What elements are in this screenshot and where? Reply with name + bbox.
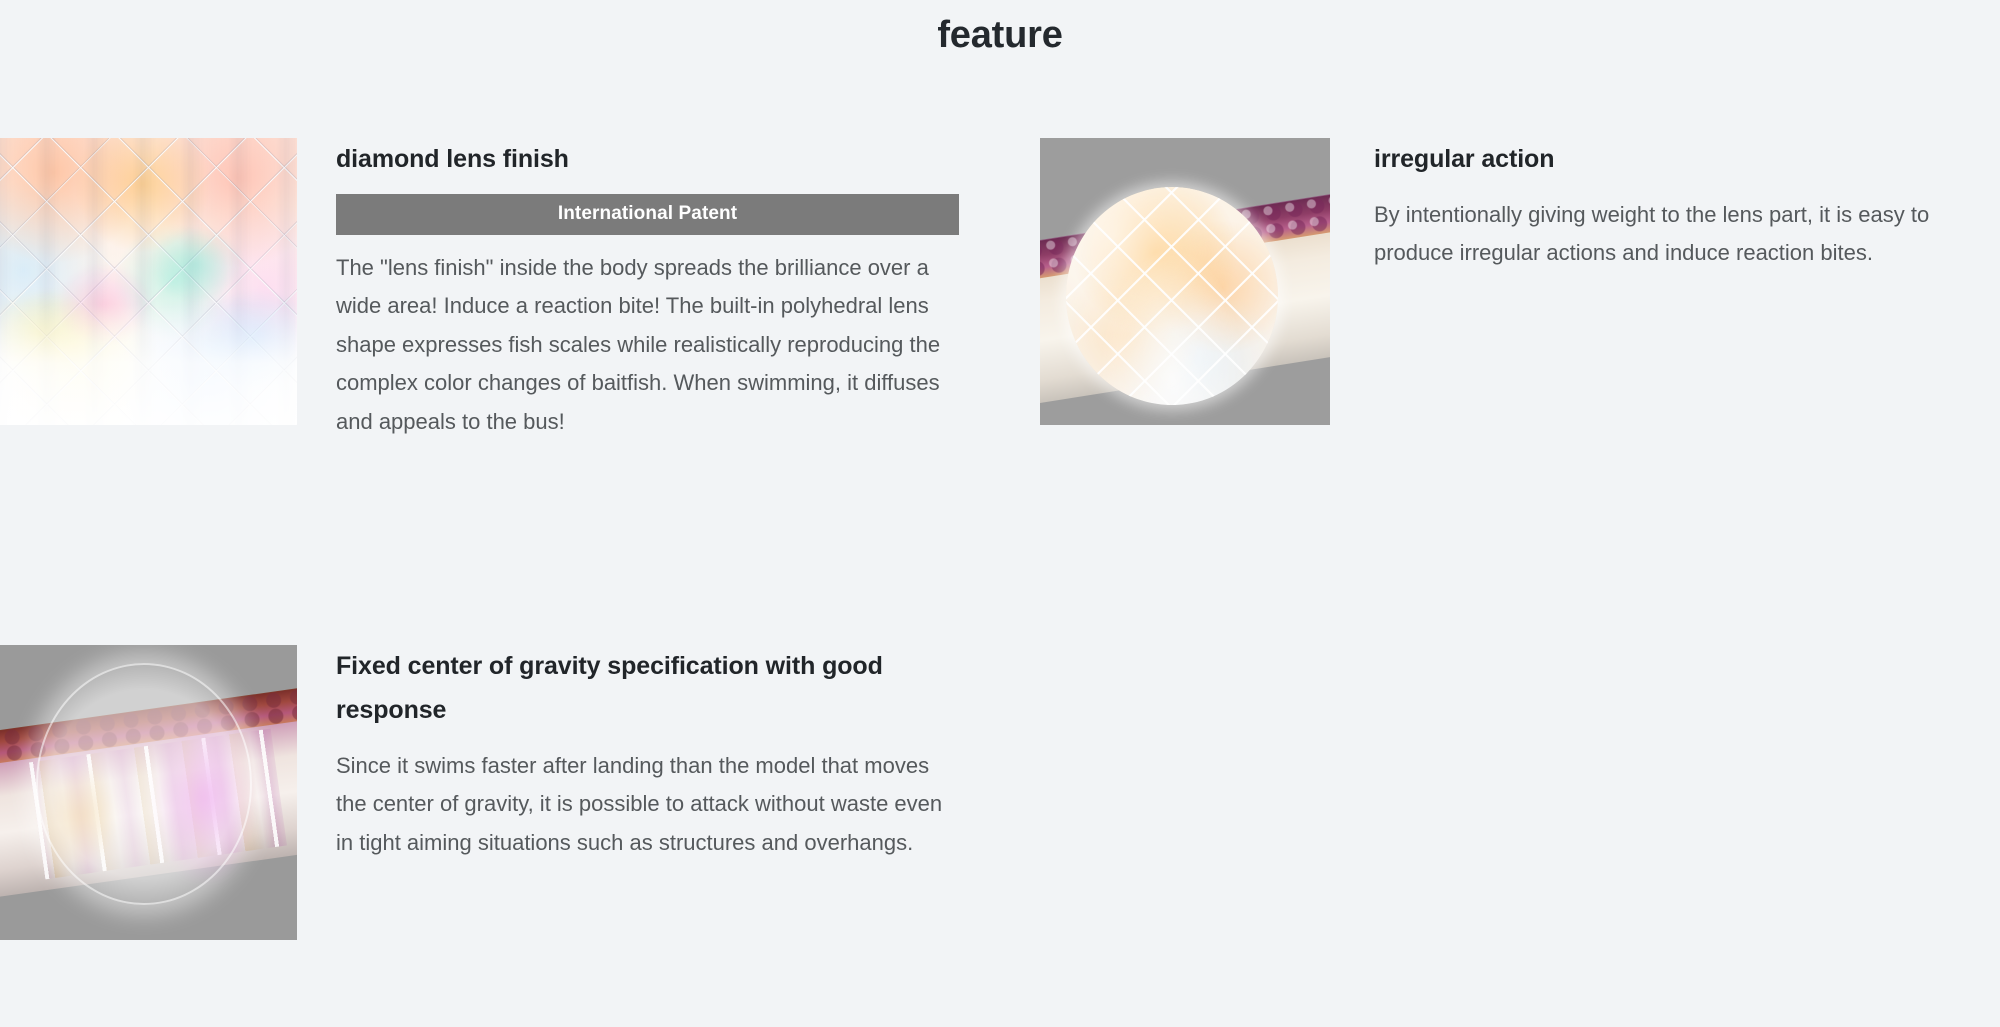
feature-title: Fixed center of gravity specification wi… [336,645,960,733]
magnified-lens-rim [36,663,253,905]
feature-block-irregular-action: irregular action By intentionally giving… [1040,138,1980,425]
fixed-center-of-gravity-text: Fixed center of gravity specification wi… [297,645,960,862]
diamond-lens-finish-text: diamond lens finish International Patent… [297,138,960,441]
status-badge: International Patent [336,194,959,235]
glare-highlight [0,304,297,425]
page-title: feature [0,4,2000,66]
feature-page: feature diamond lens finish Internationa… [0,0,2000,1027]
feature-body: Since it swims faster after landing than… [336,747,960,863]
diamond-lens-finish-image [0,138,297,425]
feature-body: By intentionally giving weight to the le… [1374,196,1980,273]
irregular-action-image [1040,138,1330,425]
feature-block-diamond-lens-finish: diamond lens finish International Patent… [0,138,960,441]
feature-title: irregular action [1374,138,1980,182]
feature-block-fixed-center-of-gravity: Fixed center of gravity specification wi… [0,645,960,940]
magnified-lens-circle [1066,187,1278,405]
feature-body: The "lens finish" inside the body spread… [336,249,960,442]
irregular-action-text: irregular action By intentionally giving… [1330,138,1980,273]
feature-title: diamond lens finish [336,138,960,182]
fixed-center-of-gravity-image [0,645,297,940]
